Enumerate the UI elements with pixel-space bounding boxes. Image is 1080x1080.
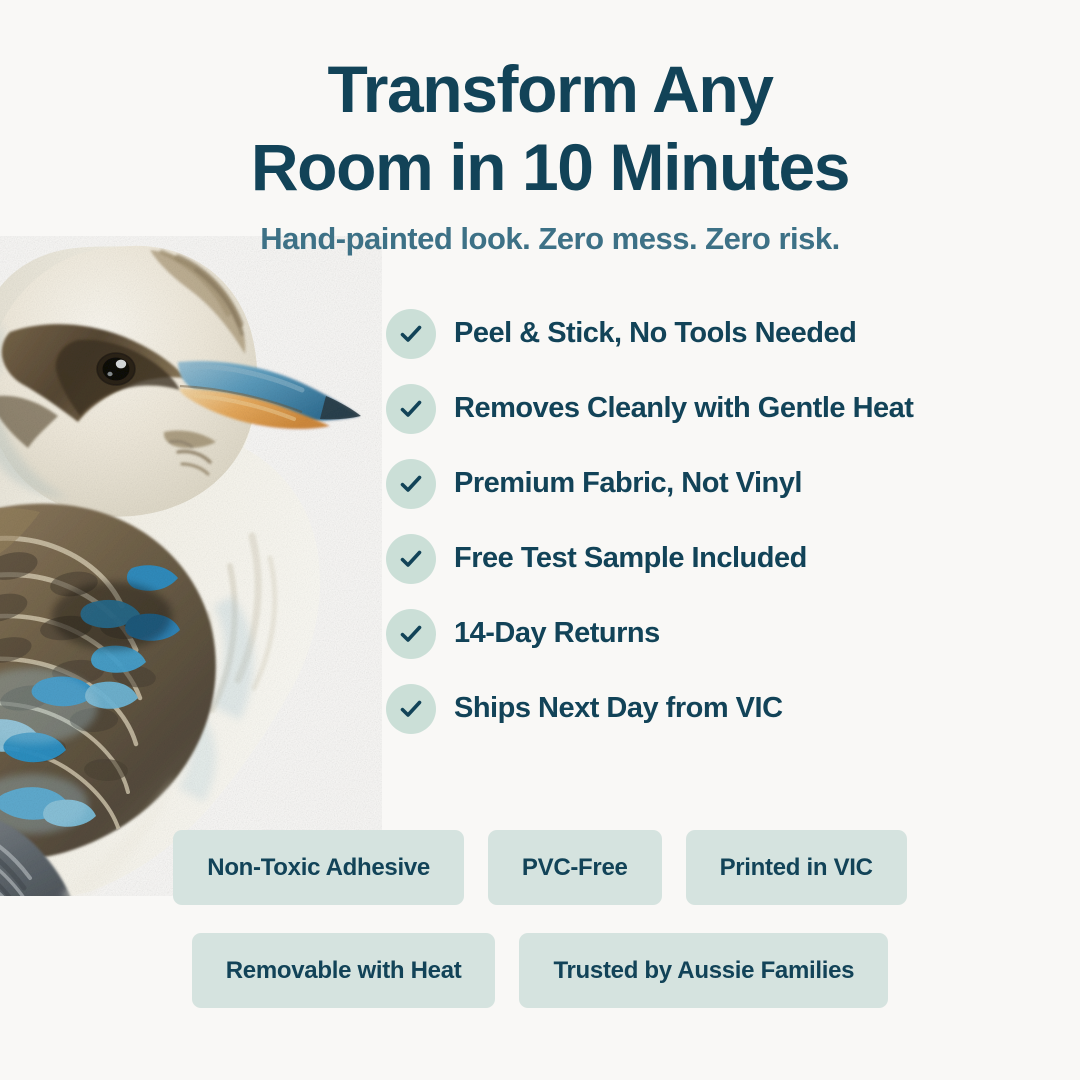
status-badge: PVC-Free xyxy=(488,830,662,905)
benefit-label: Premium Fabric, Not Vinyl xyxy=(454,467,802,500)
benefit-label: Free Test Sample Included xyxy=(454,542,807,575)
check-icon xyxy=(386,384,436,434)
headline-line-1: Transform Any xyxy=(327,52,772,126)
list-item: Free Test Sample Included xyxy=(386,521,966,596)
check-icon xyxy=(386,309,436,359)
badge-label: Trusted by Aussie Families xyxy=(553,957,854,985)
trust-badges: Non-Toxic Adhesive PVC-Free Printed in V… xyxy=(0,830,1080,1036)
badge-label: Removable with Heat xyxy=(226,957,462,985)
check-icon xyxy=(386,534,436,584)
status-badge: Removable with Heat xyxy=(192,933,496,1008)
check-icon xyxy=(386,459,436,509)
page-title: Transform Any Room in 10 Minutes xyxy=(180,50,920,206)
benefit-label: Peel & Stick, No Tools Needed xyxy=(454,317,856,350)
benefits-list: Peel & Stick, No Tools Needed Removes Cl… xyxy=(386,296,966,746)
status-badge: Non-Toxic Adhesive xyxy=(173,830,464,905)
status-badge: Trusted by Aussie Families xyxy=(519,933,888,1008)
list-item: 14-Day Returns xyxy=(386,596,966,671)
hero-text-block: Transform Any Room in 10 Minutes Hand-pa… xyxy=(180,50,920,258)
badge-label: Non-Toxic Adhesive xyxy=(207,854,430,882)
check-icon xyxy=(386,609,436,659)
benefit-label: Ships Next Day from VIC xyxy=(454,692,783,725)
badge-row-2: Removable with Heat Trusted by Aussie Fa… xyxy=(0,933,1080,1008)
page-subtitle: Hand-painted look. Zero mess. Zero risk. xyxy=(180,220,920,258)
headline-line-2: Room in 10 Minutes xyxy=(251,130,849,204)
promo-poster: Transform Any Room in 10 Minutes Hand-pa… xyxy=(0,0,1080,1080)
status-badge: Printed in VIC xyxy=(686,830,907,905)
list-item: Ships Next Day from VIC xyxy=(386,671,966,746)
badge-label: Printed in VIC xyxy=(720,854,873,882)
list-item: Premium Fabric, Not Vinyl xyxy=(386,446,966,521)
badge-row-1: Non-Toxic Adhesive PVC-Free Printed in V… xyxy=(0,830,1080,905)
benefit-label: Removes Cleanly with Gentle Heat xyxy=(454,392,913,425)
list-item: Removes Cleanly with Gentle Heat xyxy=(386,371,966,446)
kookaburra-illustration xyxy=(0,236,382,896)
benefit-label: 14-Day Returns xyxy=(454,617,660,650)
badge-label: PVC-Free xyxy=(522,854,628,882)
list-item: Peel & Stick, No Tools Needed xyxy=(386,296,966,371)
check-icon xyxy=(386,684,436,734)
